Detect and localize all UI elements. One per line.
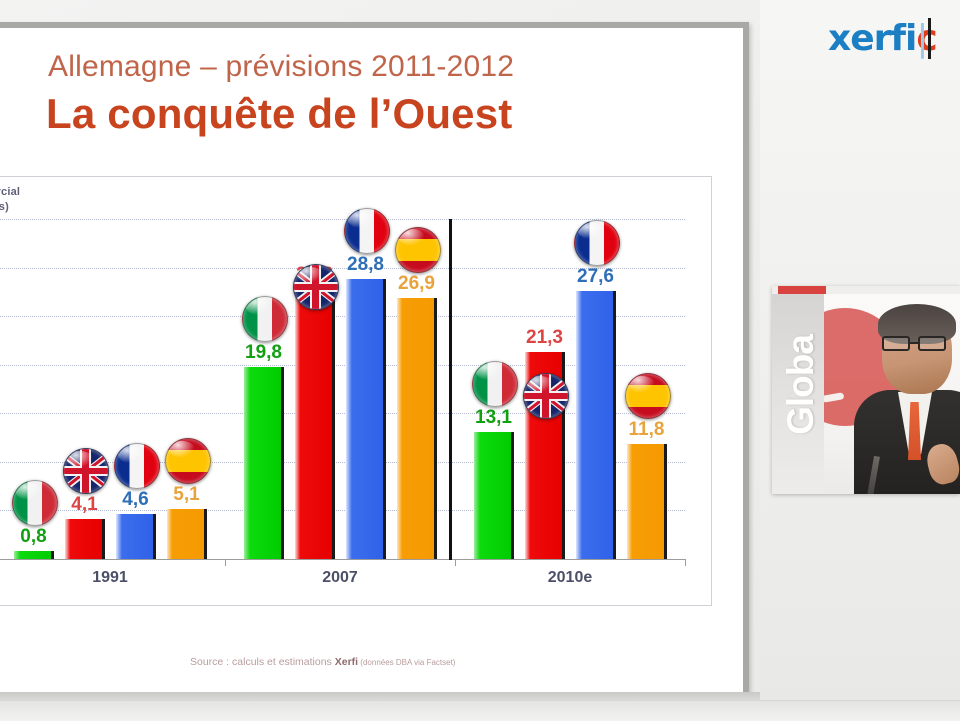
- x-axis-category-label: 1991: [0, 569, 225, 587]
- bar-royaumeuni-2007: [295, 289, 335, 559]
- bar-value-label: 26,9: [388, 273, 446, 295]
- x-axis-category-label: 2007: [225, 569, 455, 587]
- bar-value-label: 5,1: [158, 484, 216, 506]
- slide-frame: Allemagne – prévisions 2011-2012 La conq…: [0, 22, 749, 700]
- bar-value-label: 4,1: [56, 494, 114, 516]
- flag-gloss: [118, 446, 144, 463]
- chart-panel: nt commercial ard d’euros) 0,84,14,65,11…: [0, 176, 712, 606]
- france-flag-icon: [344, 208, 390, 254]
- italy-flag-icon: [12, 480, 58, 526]
- slide-content: Allemagne – prévisions 2011-2012 La conq…: [0, 28, 743, 694]
- bar-value-label: 4,6: [107, 489, 165, 511]
- source-prefix: Source : calculs et estimations: [190, 656, 335, 668]
- italy-flag-icon: [242, 296, 288, 342]
- x-axis-category-label: 2010e: [455, 569, 685, 587]
- flag-gloss: [399, 229, 425, 246]
- bottom-bar: [0, 700, 960, 721]
- spain-flag-icon: [395, 227, 441, 273]
- bar-espagne-2007: [397, 298, 437, 559]
- axis-caption-line-1: nt commercial: [0, 185, 20, 200]
- logo-name: xerfi: [828, 18, 916, 59]
- bar-espagne-1991: [167, 509, 207, 559]
- x-axis-tick: [455, 559, 456, 566]
- glasses-lens-right: [918, 336, 946, 351]
- video-panel[interactable]: Globa: [772, 286, 960, 494]
- france-flag-icon: [114, 443, 160, 489]
- uk-flag-icon: [523, 373, 569, 419]
- chart-source: Source : calculs et estimations Xerfi (d…: [190, 656, 455, 668]
- video-channel-tab: Globa: [772, 294, 824, 494]
- uk-flag-icon: [63, 448, 109, 494]
- flag-gloss: [629, 376, 655, 393]
- bar-france-1991: [116, 514, 156, 559]
- xerfi-logo: xerfi|c: [828, 18, 937, 59]
- spain-flag-icon: [625, 373, 671, 419]
- flag-gloss: [348, 211, 374, 228]
- slide-subtitle: Allemagne – prévisions 2011-2012: [48, 50, 514, 84]
- chart-gridline: [0, 219, 685, 220]
- bar-value-label: 0,8: [5, 526, 63, 548]
- video-stage: [824, 294, 960, 494]
- bar-italie-1991: [14, 551, 54, 559]
- bar-value-label: 28,8: [337, 254, 395, 276]
- bar-value-label: 27,6: [567, 266, 625, 288]
- source-suffix: (données DBA via Factset): [358, 658, 455, 667]
- bar-value-label: 21,3: [516, 327, 574, 349]
- bar-royaumeuni-1991: [65, 519, 105, 559]
- spain-flag-icon: [165, 438, 211, 484]
- x-axis-tick: [225, 559, 226, 566]
- video-channel-label: Globa: [780, 290, 822, 480]
- uk-flag-icon: [293, 264, 339, 310]
- chart-axis-caption: nt commercial ard d’euros): [0, 185, 20, 215]
- axis-caption-line-2: ard d’euros): [0, 200, 20, 215]
- source-brand: Xerfi: [335, 656, 358, 668]
- speaker-glasses-icon: [882, 336, 954, 351]
- flag-gloss: [16, 483, 42, 500]
- slide-title: La conquête de l’Ouest: [46, 90, 512, 138]
- bar-chart: 0,84,14,65,1199119,827,828,826,9200713,1…: [0, 177, 711, 315]
- bar-france-2010e: [576, 291, 616, 559]
- flag-gloss: [246, 298, 272, 315]
- x-axis-tick: [685, 559, 686, 566]
- glasses-lens-left: [882, 336, 910, 351]
- bar-italie-2010e: [474, 432, 514, 559]
- backdrop-mark-2: [824, 392, 844, 403]
- flag-gloss: [169, 441, 195, 458]
- bar-value-label: 19,8: [235, 342, 293, 364]
- flag-gloss: [578, 223, 604, 240]
- bar-value-label: 11,8: [618, 419, 676, 441]
- logo-divider: |: [916, 18, 930, 59]
- glasses-bridge: [910, 342, 918, 344]
- france-flag-icon: [574, 220, 620, 266]
- italy-flag-icon: [472, 361, 518, 407]
- forecast-separator: [449, 219, 452, 560]
- bar-france-2007: [346, 279, 386, 559]
- x-axis: [0, 559, 686, 560]
- flag-gloss: [476, 363, 502, 380]
- bar-value-label: 13,1: [465, 407, 523, 429]
- bar-espagne-2010e: [627, 444, 667, 559]
- bar-italie-2007: [244, 367, 284, 559]
